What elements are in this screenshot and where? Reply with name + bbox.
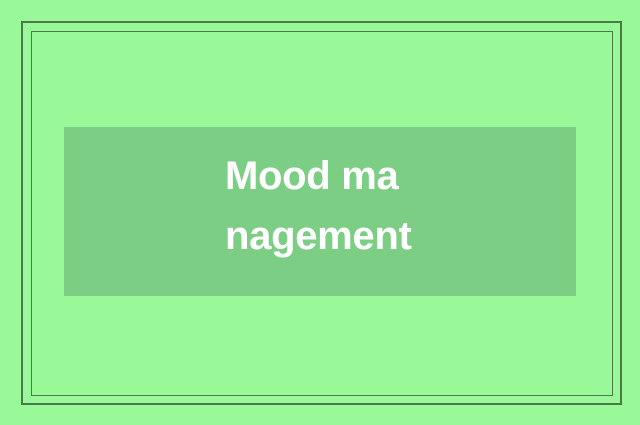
title-plate: Mood management	[64, 127, 576, 296]
slide-title: Mood management	[225, 146, 421, 266]
slide-canvas: Mood management	[0, 0, 640, 425]
